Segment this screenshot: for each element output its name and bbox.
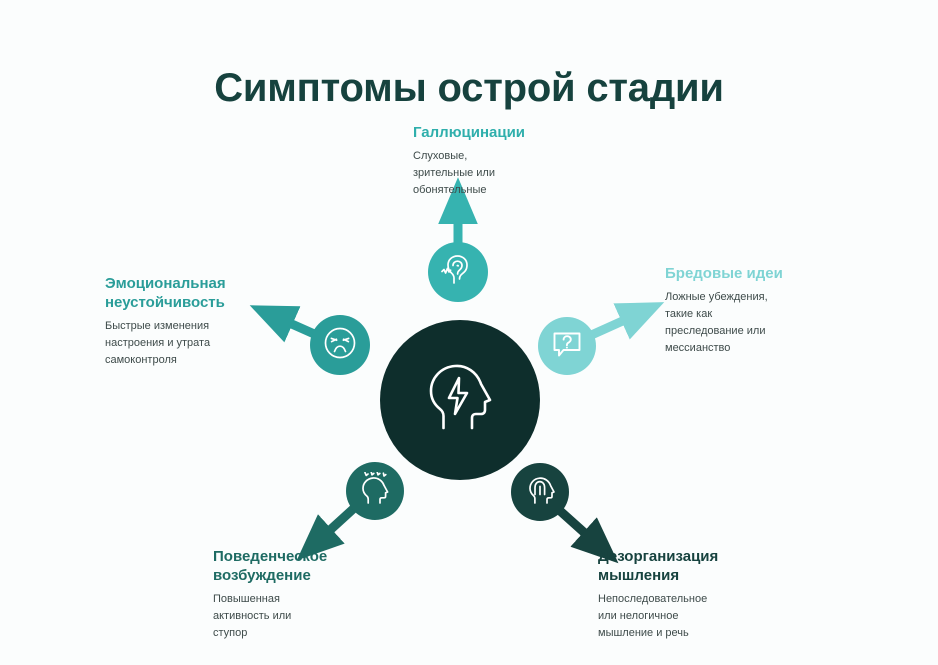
node-title-emotional-instability: Эмоциональная неустойчивость: [105, 275, 273, 313]
node-circle-behavioral-agitation[interactable]: [346, 462, 404, 520]
node-text-behavioral-agitation: Поведенческое возбуждение Повышенная акт…: [213, 548, 423, 642]
infographic-canvas: Симптомы острой стадии: [0, 0, 938, 665]
node-title-delusional-ideas: Бредовые идеи: [665, 265, 865, 284]
node-desc-hallucinations: Слуховые, зрительные или обонятельные: [413, 148, 623, 199]
node-desc-delusional-ideas: Ложные убеждения, такие как преследовани…: [665, 289, 865, 357]
node-text-disorganized-thinking: Дезорганизация мышления Непоследовательн…: [598, 548, 828, 642]
node-desc-behavioral-agitation: Повышенная активность или ступор: [213, 591, 423, 642]
head-agitation-icon: [358, 472, 392, 511]
center-hub: [380, 320, 540, 480]
node-circle-disorganized-thinking[interactable]: [511, 463, 569, 521]
sad-face-icon: [322, 325, 358, 366]
node-circle-emotional-instability[interactable]: [310, 315, 370, 375]
node-desc-emotional-instability: Быстрые изменения настроения и утрата са…: [105, 318, 273, 369]
node-text-hallucinations: Галлюцинации Слуховые, зрительные или об…: [413, 124, 623, 199]
node-text-emotional-instability: Эмоциональная неустойчивость Быстрые изм…: [105, 275, 273, 369]
head-lightning-icon: [425, 362, 495, 439]
node-desc-disorganized-thinking: Непоследовательное или нелогичное мышлен…: [598, 591, 828, 642]
node-text-delusional-ideas: Бредовые идеи Ложные убеждения, такие ка…: [665, 265, 865, 357]
node-circle-hallucinations[interactable]: [428, 242, 488, 302]
node-title-hallucinations: Галлюцинации: [413, 124, 623, 143]
radial-diagram: Галлюцинации Слуховые, зрительные или об…: [0, 0, 938, 665]
ear-sound-icon: [441, 253, 475, 292]
head-tangled-icon: [523, 473, 557, 512]
node-circle-delusional-ideas[interactable]: [538, 317, 596, 375]
node-title-disorganized-thinking: Дезорганизация мышления: [598, 548, 828, 586]
speech-bubble-question-icon: [550, 327, 584, 366]
node-title-behavioral-agitation: Поведенческое возбуждение: [213, 548, 423, 586]
